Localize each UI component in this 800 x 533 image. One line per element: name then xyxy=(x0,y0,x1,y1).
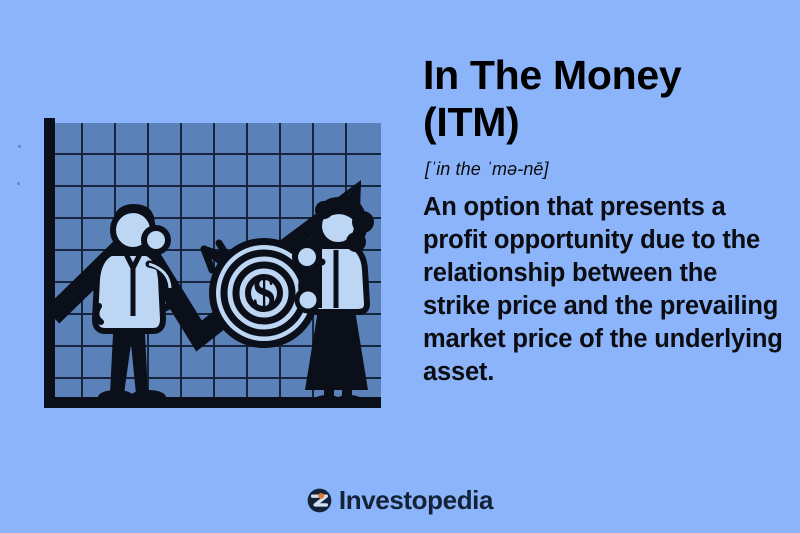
stock-chart-with-investors-illustration: $ xyxy=(36,118,388,420)
artifact-speck xyxy=(17,182,20,185)
definition-card: $ xyxy=(0,0,800,533)
svg-text:$: $ xyxy=(253,267,276,318)
pronunciation: [ˈin the ˈmə-nē] xyxy=(425,158,785,180)
definition-text-column: In The Money (ITM) [ˈin the ˈmə-nē] An o… xyxy=(423,52,785,389)
definition-text: An option that presents a profit opportu… xyxy=(423,191,785,389)
page-title: In The Money (ITM) xyxy=(423,52,785,146)
investopedia-logo-mark xyxy=(307,488,332,513)
investopedia-logo: Investopedia xyxy=(0,487,800,513)
investopedia-wordmark: Investopedia xyxy=(339,487,493,513)
artifact-speck xyxy=(18,145,21,148)
